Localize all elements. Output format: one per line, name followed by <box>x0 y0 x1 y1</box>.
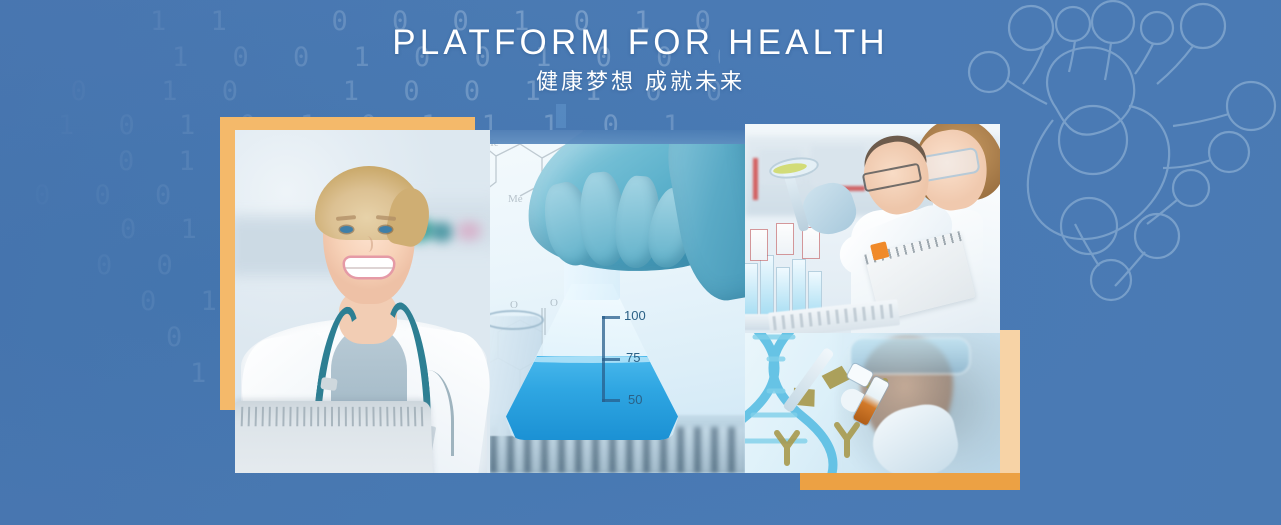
photo-dna-researcher <box>745 333 1000 473</box>
flask-graduation-50: 50 <box>628 392 642 407</box>
photo-gloved-hand-flask: Me Me OH O O O 100 75 50 <box>490 130 745 473</box>
flask-graduation-75: 75 <box>626 350 640 365</box>
page-title: PLATFORM FOR HEALTH <box>0 22 1281 64</box>
health-platform-banner: 1 1 0 0 0 1 0 1 0 0 0 1 0 0 1 0 0 1 0 0 … <box>0 0 1281 525</box>
headline-block: PLATFORM FOR HEALTH 健康梦想 成就未来 <box>0 22 1281 98</box>
orange-frame-right-edge <box>1000 330 1020 490</box>
photo-two-lab-scientists <box>745 124 1000 333</box>
flask-graduation-100: 100 <box>624 308 646 323</box>
orange-frame-bottom-bar <box>800 473 1020 490</box>
page-subtitle: 健康梦想 成就未来 <box>0 66 1281 98</box>
photo-smiling-doctor <box>235 130 490 473</box>
svg-text:Me: Me <box>508 193 523 205</box>
